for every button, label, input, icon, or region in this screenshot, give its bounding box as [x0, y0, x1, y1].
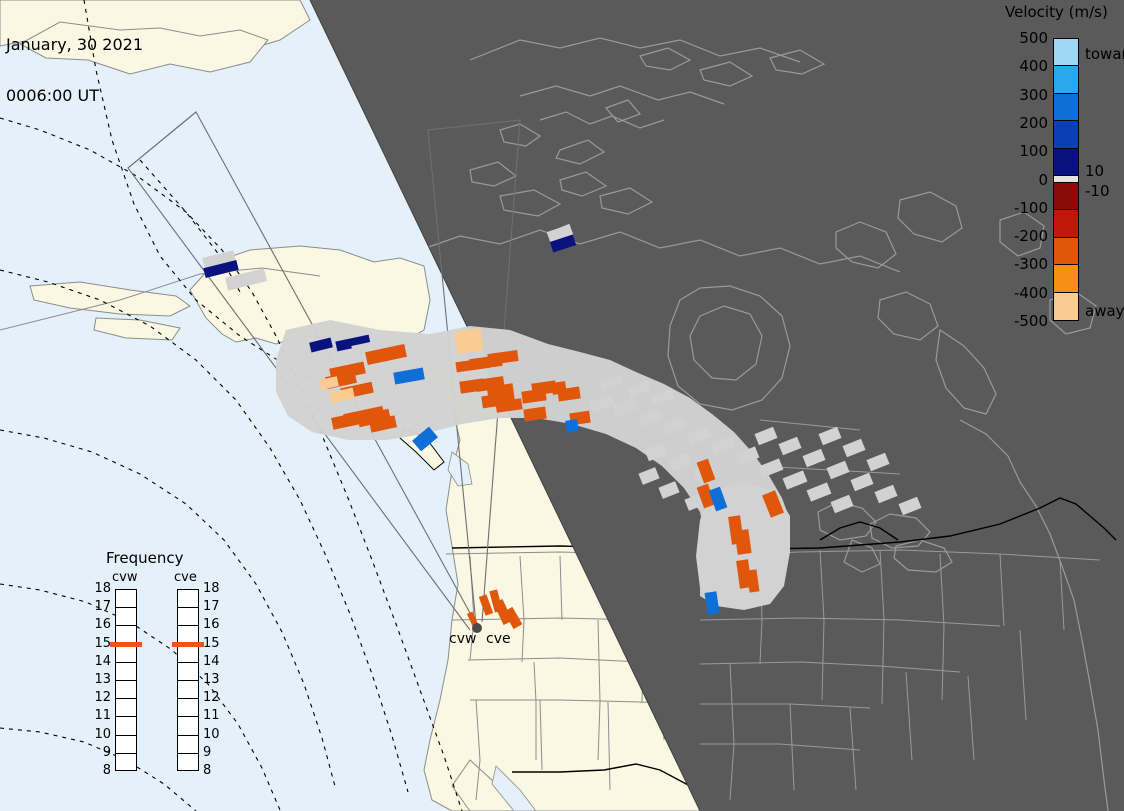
timestamp: January, 30 2021 0006:00 UT — [6, 2, 143, 138]
frequency-cell — [178, 663, 198, 681]
colorbar-tick-neg200: -200 — [1000, 227, 1048, 245]
frequency-cell — [116, 590, 136, 608]
frequency-scale-label-right: 15 — [203, 636, 227, 651]
frequency-cell — [178, 699, 198, 717]
frequency-bar-cve — [177, 589, 199, 771]
colorbar-inner-positive-label: 10 — [1085, 162, 1104, 180]
frequency-legend-title: Frequency — [106, 549, 184, 567]
colorbar-away-segment-3 — [1054, 265, 1078, 292]
colorbar-tick-400: 400 — [1000, 57, 1048, 75]
frequency-column-header-cvw: cvw — [112, 570, 137, 585]
colorbar-tick-neg100: -100 — [1000, 199, 1048, 217]
frequency-bar-cvw — [115, 589, 137, 771]
superdarn-velocity-map: January, 30 2021 0006:00 UT Velocity (m/… — [0, 0, 1124, 811]
frequency-cell — [116, 663, 136, 681]
frequency-cell — [116, 754, 136, 772]
frequency-scale-label-left: 9 — [87, 745, 111, 760]
colorbar-toward-label: toward — [1085, 45, 1124, 63]
frequency-cell — [178, 736, 198, 754]
frequency-cell — [178, 681, 198, 699]
velocity-colorbar — [1053, 38, 1079, 321]
frequency-cell — [116, 681, 136, 699]
frequency-cell — [178, 717, 198, 735]
colorbar-tick-500: 500 — [1000, 29, 1048, 47]
colorbar-tick-neg500: -500 — [1000, 312, 1048, 330]
frequency-scale-label-right: 14 — [203, 654, 227, 669]
frequency-scale-label-right: 12 — [203, 690, 227, 705]
frequency-cell — [116, 645, 136, 663]
frequency-scale-label-left: 11 — [87, 708, 111, 723]
frequency-scale-label-right: 10 — [203, 727, 227, 742]
frequency-scale-label-left: 17 — [87, 599, 111, 614]
frequency-scale-label-right: 17 — [203, 599, 227, 614]
station-label-cve: cve — [486, 631, 511, 647]
colorbar-title: Velocity (m/s) — [1005, 3, 1108, 21]
colorbar-toward-segment-1 — [1054, 66, 1078, 93]
frequency-scale-label-left: 10 — [87, 727, 111, 742]
frequency-scale-label-left: 8 — [87, 763, 111, 778]
radar-cell — [455, 328, 484, 353]
colorbar-away-segment-4 — [1054, 293, 1078, 320]
frequency-scale-label-right: 9 — [203, 745, 227, 760]
timestamp-time: 0006:00 UT — [6, 87, 143, 104]
frequency-marker-cvw — [110, 642, 142, 647]
colorbar-inner-negative-label: -10 — [1085, 182, 1110, 200]
frequency-cell — [178, 608, 198, 626]
colorbar-toward-segment-4 — [1054, 149, 1078, 176]
frequency-scale-label-left: 13 — [87, 672, 111, 687]
frequency-cell — [178, 645, 198, 663]
colorbar-toward-segment-3 — [1054, 121, 1078, 148]
colorbar-toward-segment-2 — [1054, 94, 1078, 121]
frequency-cell — [178, 754, 198, 772]
frequency-column-header-cve: cve — [174, 570, 197, 585]
colorbar-away-segment-2 — [1054, 238, 1078, 265]
frequency-scale-label-right: 16 — [203, 617, 227, 632]
colorbar-away-segment-0 — [1054, 183, 1078, 210]
colorbar-tick-0: 0 — [1000, 171, 1048, 189]
frequency-scale-label-left: 16 — [87, 617, 111, 632]
colorbar-tick-neg400: -400 — [1000, 284, 1048, 302]
colorbar-deadband-segment — [1054, 176, 1078, 183]
frequency-marker-cve — [172, 642, 204, 647]
frequency-scale-label-right: 11 — [203, 708, 227, 723]
frequency-scale-label-left: 12 — [87, 690, 111, 705]
radar-cell — [565, 419, 579, 433]
colorbar-tick-100: 100 — [1000, 142, 1048, 160]
frequency-scale-label-left: 14 — [87, 654, 111, 669]
timestamp-date: January, 30 2021 — [6, 36, 143, 53]
map-canvas — [0, 0, 1124, 811]
frequency-cell — [178, 590, 198, 608]
frequency-cell — [116, 736, 136, 754]
colorbar-tick-200: 200 — [1000, 114, 1048, 132]
frequency-scale-label-left: 18 — [87, 581, 111, 596]
frequency-scale-label-right: 8 — [203, 763, 227, 778]
frequency-scale-label-right: 18 — [203, 581, 227, 596]
colorbar-toward-segment-0 — [1054, 39, 1078, 66]
colorbar-away-label: away — [1085, 302, 1124, 320]
station-label-cvw: cvw — [449, 631, 476, 647]
frequency-scale-label-left: 15 — [87, 636, 111, 651]
colorbar-tick-neg300: -300 — [1000, 255, 1048, 273]
frequency-cell — [116, 699, 136, 717]
colorbar-tick-300: 300 — [1000, 86, 1048, 104]
frequency-cell — [116, 608, 136, 626]
colorbar-away-segment-1 — [1054, 210, 1078, 237]
frequency-scale-label-right: 13 — [203, 672, 227, 687]
frequency-cell — [116, 717, 136, 735]
